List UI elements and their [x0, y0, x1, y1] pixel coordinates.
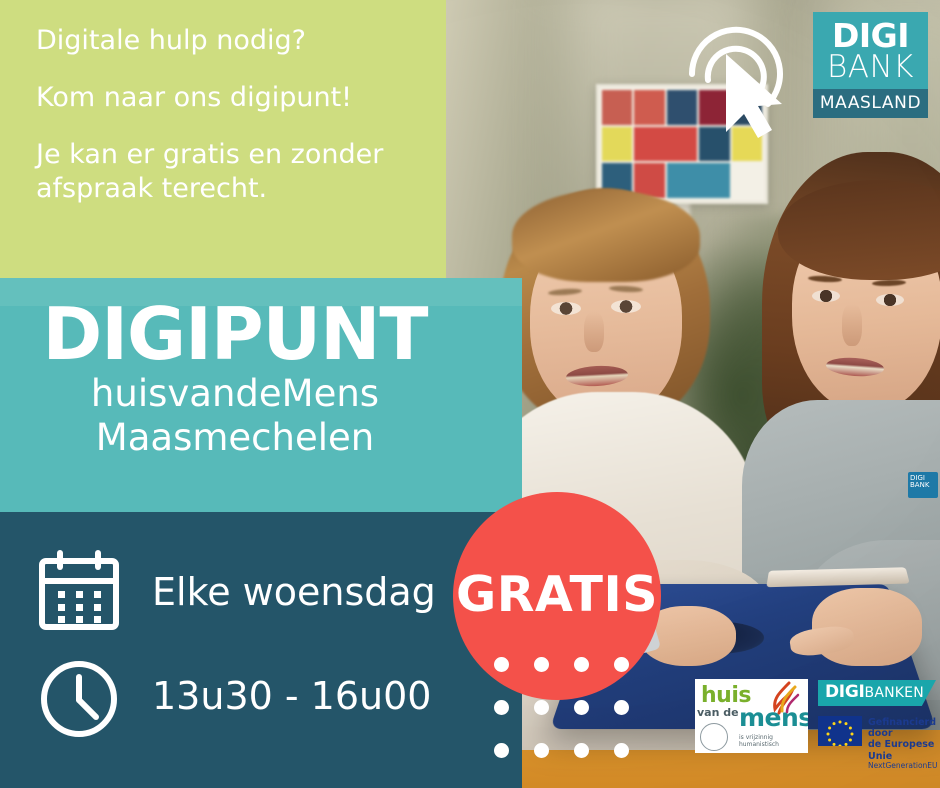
- digibank-logo-digi: DIGI: [823, 20, 918, 52]
- flame-icon: [767, 681, 803, 715]
- poster-canvas: DIGI BANK Digitale hulp nodig? Kom naar …: [0, 0, 940, 788]
- headline-subtitle-1: huisvandeMens: [0, 373, 470, 415]
- cursor-click-icon: [672, 10, 800, 138]
- intro-line-1: Digitale hulp nodig?: [36, 24, 440, 58]
- huisvandemens-word-vandede: van de: [697, 706, 739, 719]
- eu-flag-icon: [818, 716, 862, 746]
- intro-line-2: Kom naar ons digipunt!: [36, 81, 440, 115]
- digibank-maasland-logo: DIGI BANK MAASLAND: [813, 12, 928, 118]
- eu-funding-line-2: de Europese Unie: [868, 739, 938, 761]
- decorative-dot-grid: [494, 657, 654, 786]
- calendar-icon: [36, 549, 122, 635]
- schedule-row-day: Elke woensdag: [36, 540, 466, 644]
- huisvandemens-logo: huis van de mens is vrijzinnig humanisti…: [695, 679, 808, 753]
- schedule-day-label: Elke woensdag: [152, 570, 436, 614]
- digibank-logo-bank: BANK: [823, 52, 918, 83]
- digibanken-logo-banken: BANKEN: [865, 685, 924, 701]
- intro-text-block: Digitale hulp nodig? Kom naar ons digipu…: [36, 24, 440, 206]
- schedule-time-label: 13u30 - 16u00: [152, 674, 431, 718]
- digibank-logo-main: DIGI BANK: [813, 12, 928, 89]
- headline-block: DIGIPUNT huisvandeMens Maasmechelen: [0, 298, 470, 459]
- headline-title: DIGIPUNT: [0, 298, 470, 371]
- schedule-list: Elke woensdag 13u30 - 16u00: [36, 540, 466, 748]
- headline-subtitle-2: Maasmechelen: [0, 417, 470, 459]
- clock-icon: [36, 653, 122, 739]
- digibanken-logo-text: DIGIBANKEN: [825, 684, 924, 701]
- huisvandemens-tagline: is vrijzinnig humanistisch: [739, 734, 808, 748]
- huisvandemens-seal-icon: [700, 723, 728, 751]
- eu-funding-line-3: NextGenerationEU: [868, 762, 938, 771]
- digibanken-logo-digi: DIGI: [825, 682, 865, 702]
- gratis-badge-label: GRATIS: [456, 566, 658, 623]
- eu-funding-logo: Gefinancierd door de Europese Unie NextG…: [818, 716, 936, 760]
- digibanken-logo: DIGIBANKEN: [818, 680, 936, 706]
- eu-funding-line-1: Gefinancierd door: [868, 717, 938, 739]
- digibank-logo-maasland: MAASLAND: [813, 89, 928, 118]
- eu-funding-text: Gefinancierd door de Europese Unie NextG…: [868, 716, 938, 771]
- schedule-row-time: 13u30 - 16u00: [36, 644, 466, 748]
- intro-line-3: Je kan er gratis en zonder afspraak tere…: [36, 138, 440, 206]
